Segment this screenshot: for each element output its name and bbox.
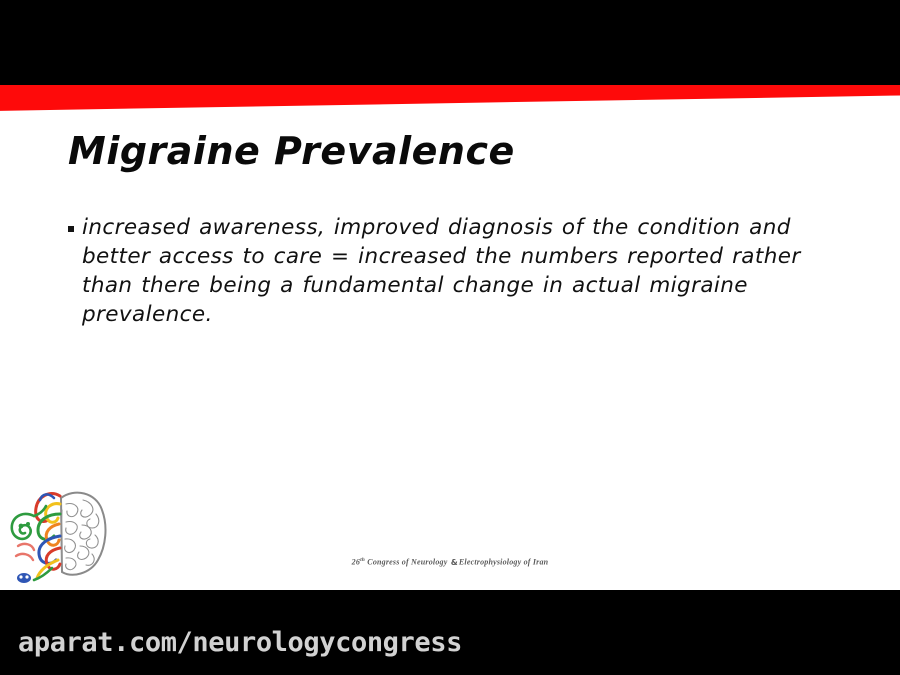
footer-ordinal-number: 26 — [352, 558, 360, 567]
footer-credit-line: 26th Congress of Neurology &Electrophysi… — [0, 557, 900, 567]
page-title: Migraine Prevalence — [68, 129, 515, 173]
video-frame: Migraine Prevalence increased awareness,… — [0, 0, 900, 675]
bullet-text: increased awareness, improved diagnosis … — [82, 213, 828, 329]
letterbox-top-bar — [0, 0, 900, 85]
congress-brain-logo — [4, 480, 114, 585]
presentation-slide: Migraine Prevalence increased awareness,… — [0, 85, 900, 590]
brain-left-hemisphere — [12, 494, 60, 583]
slide-body: increased awareness, improved diagnosis … — [68, 213, 828, 329]
footer-text-before: Congress of Neurology — [365, 558, 450, 567]
watermark-url: aparat.com/neurologycongress — [18, 627, 462, 658]
list-item: increased awareness, improved diagnosis … — [68, 213, 828, 329]
red-accent-stripe — [0, 85, 900, 111]
footer-text-after: Electrophysiology of Iran — [459, 558, 548, 567]
square-bullet-icon — [68, 213, 82, 232]
footer-separator: & — [450, 558, 459, 567]
